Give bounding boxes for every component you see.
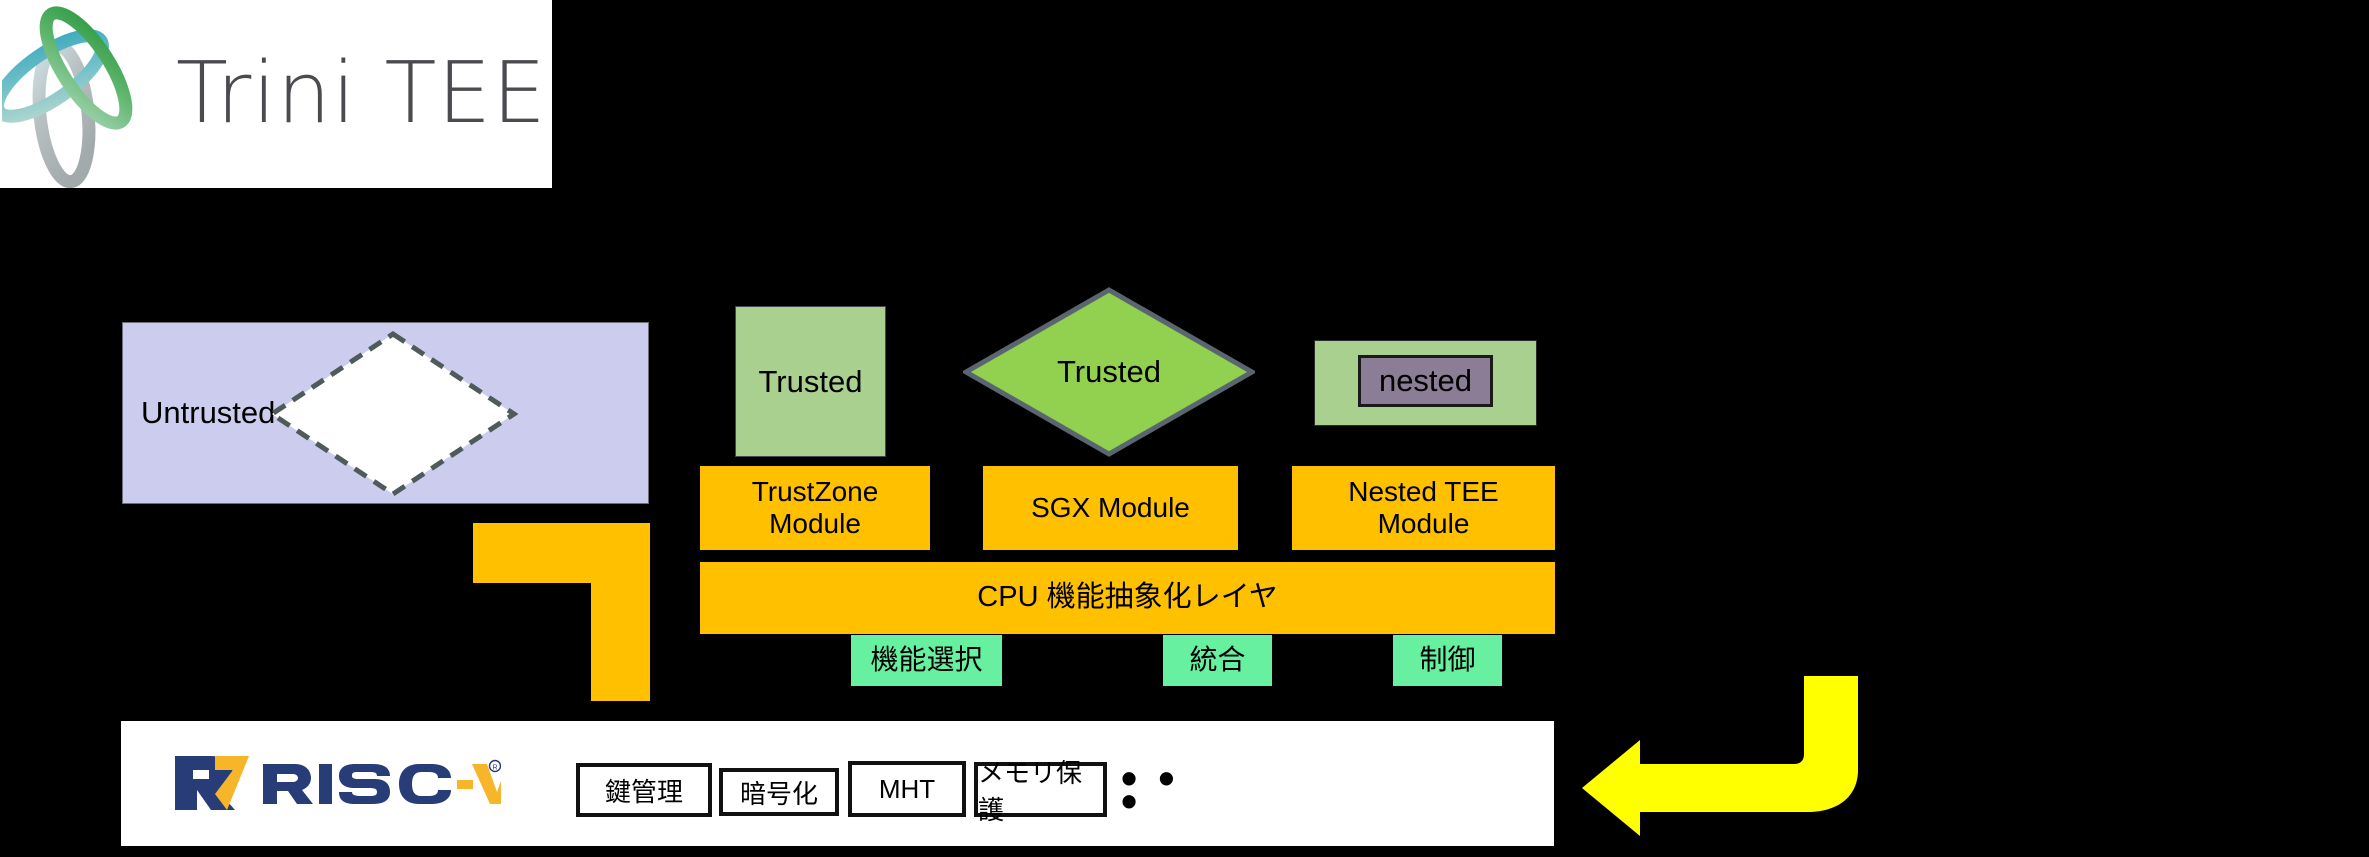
feature-box-key-management: 鍵管理 bbox=[576, 763, 712, 817]
module-trustzone-line1: TrustZone bbox=[752, 476, 879, 508]
feature-box-mht: MHT bbox=[848, 761, 966, 817]
mint-label-integration: 統合 bbox=[1163, 635, 1272, 686]
feature-1-label: 鍵管理 bbox=[605, 772, 683, 809]
trusted-diamond-label: Trusted bbox=[963, 287, 1255, 457]
mint-label-control: 制御 bbox=[1393, 635, 1502, 686]
module-trustzone-line2: Module bbox=[752, 508, 879, 540]
feature-box-encryption: 暗号化 bbox=[719, 768, 839, 816]
mint-label-2-text: 統合 bbox=[1189, 644, 1245, 676]
module-nested-tee-line1: Nested TEE bbox=[1348, 476, 1498, 508]
feature-4-label: メモリ保護 bbox=[978, 753, 1103, 827]
module-box-sgx: SGX Module bbox=[983, 466, 1238, 550]
module-nested-tee-line2: Module bbox=[1348, 508, 1498, 540]
riscv-hardware-panel: R 鍵管理 暗号化 MHT メモリ保護 • • • bbox=[121, 721, 1554, 846]
feature-box-memory-protection: メモリ保護 bbox=[974, 762, 1107, 817]
module-sgx-label: SGX Module bbox=[1031, 492, 1190, 524]
module-box-nested-tee: Nested TEE Module bbox=[1292, 466, 1555, 550]
nested-inner-box: nested bbox=[1358, 355, 1493, 407]
cpu-abstraction-layer-label: CPU 機能抽象化レイヤ bbox=[977, 581, 1277, 614]
module-box-trustzone: TrustZone Module bbox=[700, 466, 930, 550]
untrusted-enclave-diamond-icon bbox=[268, 330, 518, 498]
riscv-logo-icon: R bbox=[171, 754, 501, 812]
mint-label-function-selection: 機能選択 bbox=[851, 635, 1002, 686]
trefoil-knot-logo-icon bbox=[2, 0, 188, 188]
trinitee-logo-panel: Trini TEE bbox=[0, 0, 552, 188]
mint-label-1-text: 機能選択 bbox=[870, 644, 982, 676]
trusted-square-label: Trusted bbox=[759, 364, 863, 400]
mint-label-3-text: 制御 bbox=[1419, 644, 1475, 676]
trinitee-wordmark: Trini TEE bbox=[176, 28, 552, 158]
riscv-logo: R bbox=[171, 754, 501, 812]
trusted-diamond-shape: Trusted bbox=[963, 287, 1255, 457]
diagram-canvas: Trini TEE Untrusted App. Trusted Trusted… bbox=[0, 0, 2369, 857]
nested-label: nested bbox=[1379, 363, 1472, 399]
feature-3-label: MHT bbox=[879, 774, 935, 805]
feature-2-label: 暗号化 bbox=[740, 774, 818, 811]
ellipsis-more-features: • • • bbox=[1121, 763, 1211, 817]
svg-text:R: R bbox=[492, 765, 497, 772]
bent-arrow-left-icon bbox=[1580, 676, 1860, 836]
orange-elbow-connector bbox=[473, 523, 650, 701]
trusted-square-box: Trusted bbox=[735, 306, 886, 457]
cpu-abstraction-layer-bar: CPU 機能抽象化レイヤ bbox=[700, 562, 1555, 634]
